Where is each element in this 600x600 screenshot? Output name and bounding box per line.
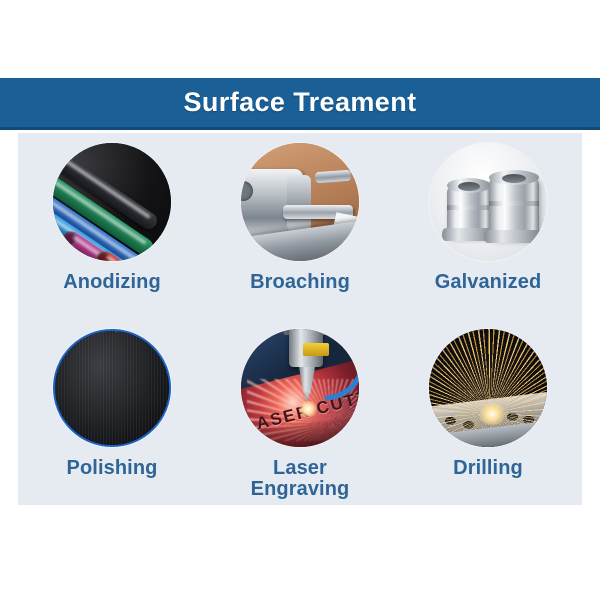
gallery-item-polishing[interactable]: Polishing bbox=[18, 319, 206, 505]
caption-laser-engraving: Laser Engraving bbox=[251, 458, 350, 500]
banner-header: Surface Treament bbox=[0, 78, 600, 130]
galvanized-bushing-left bbox=[447, 185, 491, 237]
gallery-grid: Anodizing Broaching bbox=[18, 133, 582, 505]
laser-engraving-thumbnail: LASER CUTT bbox=[241, 329, 359, 447]
galvanized-bushing-right bbox=[489, 177, 539, 239]
caption-drilling: Drilling bbox=[453, 458, 523, 479]
caption-broaching: Broaching bbox=[250, 272, 350, 293]
gallery-item-drilling[interactable]: Drilling bbox=[394, 319, 582, 505]
drilling-thumbnail bbox=[429, 329, 547, 447]
laser-yellow-label bbox=[303, 343, 329, 356]
gallery-item-anodizing[interactable]: Anodizing bbox=[18, 133, 206, 319]
broaching-thumbnail bbox=[241, 143, 359, 261]
gallery-item-galvanized[interactable]: Galvanized bbox=[394, 133, 582, 319]
caption-polishing: Polishing bbox=[67, 458, 158, 479]
machine-chuck bbox=[241, 169, 303, 237]
product-feature-image: Surface Treament Anodizing bbox=[0, 0, 600, 600]
gallery-item-laser-engraving[interactable]: LASER CUTT Laser Engraving bbox=[206, 319, 394, 505]
anodizing-thumbnail bbox=[53, 143, 171, 261]
polishing-thumbnail bbox=[53, 329, 171, 447]
laser-spark bbox=[297, 401, 319, 417]
spark-flash bbox=[477, 403, 507, 425]
caption-anodizing: Anodizing bbox=[63, 272, 161, 293]
gallery-item-broaching[interactable]: Broaching bbox=[206, 133, 394, 319]
caption-galvanized: Galvanized bbox=[435, 272, 542, 293]
galvanized-thumbnail bbox=[429, 143, 547, 261]
caption-laser-line1: Laser bbox=[273, 457, 327, 479]
caption-laser-line2: Engraving bbox=[251, 478, 350, 500]
page-title: Surface Treament bbox=[184, 89, 417, 116]
gallery-panel: Anodizing Broaching bbox=[18, 133, 582, 505]
